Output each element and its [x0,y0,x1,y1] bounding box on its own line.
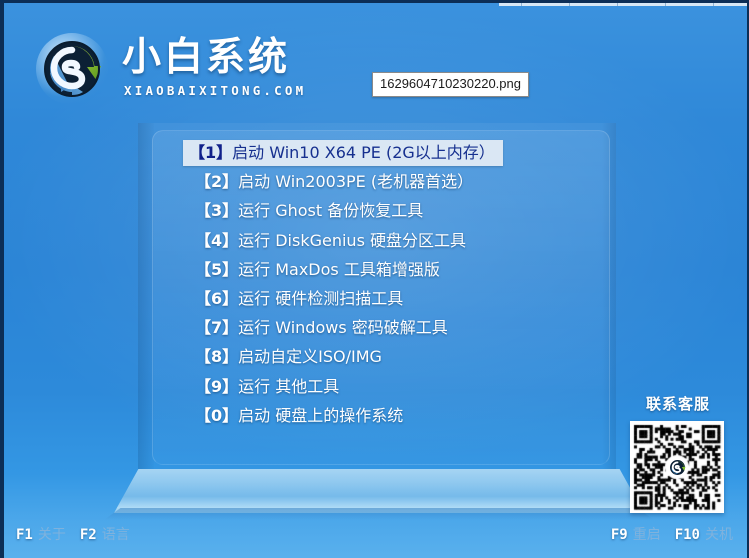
function-keys-right: F9重启F10关机 [611,526,733,544]
fkey-f2[interactable]: F2 [80,527,97,543]
pedestal-shadow [104,508,654,520]
boot-menu-item-7[interactable]: 【7】运行 Windows 密码破解工具 [189,315,456,341]
boot-menu-item-4[interactable]: 【4】运行 DiskGenius 硬盘分区工具 [189,228,474,254]
brand-name-cn: 小白系统 [122,35,290,81]
boot-menu-item-key: 【3】 [195,201,238,220]
boot-menu-item-2[interactable]: 【2】启动 Win2003PE (老机器首选） [189,169,481,195]
qr-code[interactable] [630,421,724,513]
boot-menu-item-label: 启动 Win2003PE (老机器首选） [238,172,473,191]
boot-menu-item-key: 【6】 [195,289,238,308]
boot-menu-item-label: 运行 MaxDos 工具箱增强版 [238,260,440,279]
boot-menu-item-label: 启动 硬盘上的操作系统 [238,406,403,425]
boot-menu-item-label: 运行 Ghost 备份恢复工具 [238,201,423,220]
boot-menu-item-key: 【1】 [189,143,232,162]
boot-menu-item-8[interactable]: 【8】启动自定义ISO/IMG [189,344,390,370]
boot-menu-item-6[interactable]: 【6】运行 硬件检测扫描工具 [189,286,411,312]
boot-menu-item-9[interactable]: 【9】运行 其他工具 [189,374,347,400]
boot-menu-item-key: 【5】 [195,260,238,279]
boot-menu-item-label: 运行 Windows 密码破解工具 [238,318,448,337]
fkey-f9-label: 重启 [633,527,661,543]
pedestal [114,469,644,513]
boot-menu-item-key: 【7】 [195,318,238,337]
boot-menu-list: 【1】启动 Win10 X64 PE (2G以上内存）【2】启动 Win2003… [153,131,611,466]
boot-menu-item-key: 【4】 [195,231,238,250]
boot-menu-item-5[interactable]: 【5】运行 MaxDos 工具箱增强版 [189,257,448,283]
boot-menu-item-label: 运行 硬件检测扫描工具 [238,289,403,308]
fkey-f10[interactable]: F10 [675,527,700,543]
boot-menu-item-label: 运行 DiskGenius 硬盘分区工具 [238,231,466,250]
boot-menu-item-key: 【9】 [195,377,238,396]
boot-menu-item-label: 启动 Win10 X64 PE (2G以上内存） [232,143,495,162]
fkey-f2-label: 语言 [102,527,130,543]
brand-logo: 小白系统 XIAOBAIXITONG.COM [34,31,334,109]
pe-boot-menu-screen: 小白系统 XIAOBAIXITONG.COM 1629604710230220.… [0,0,749,558]
recycle-globe-logo-icon [36,33,108,105]
boot-menu-item-label: 启动自定义ISO/IMG [238,347,382,366]
contact-support-title: 联系客服 [622,395,734,413]
contact-support: 联系客服 [622,395,734,513]
boot-menu-item-label: 运行 其他工具 [238,377,339,396]
filename-tooltip: 1629604710230220.png [372,72,529,97]
boot-menu-panel: 【1】启动 Win10 X64 PE (2G以上内存）【2】启动 Win2003… [152,130,610,465]
top-edge-strip [499,3,749,6]
boot-menu-item-10[interactable]: 【0】启动 硬盘上的操作系统 [189,403,411,429]
boot-menu-item-1[interactable]: 【1】启动 Win10 X64 PE (2G以上内存） [183,140,503,166]
boot-menu-item-key: 【0】 [195,406,238,425]
qr-center-logo-icon [668,458,687,477]
fkey-f1-label: 关于 [38,527,66,543]
boot-menu-item-key: 【8】 [195,347,238,366]
function-keys-left: F1关于F2语言 [16,526,130,544]
brand-name-en: XIAOBAIXITONG.COM [124,83,306,98]
fkey-f10-label: 关机 [705,527,733,543]
fkey-f9[interactable]: F9 [611,527,628,543]
boot-menu-item-key: 【2】 [195,172,238,191]
fkey-f1[interactable]: F1 [16,527,33,543]
boot-menu-item-3[interactable]: 【3】运行 Ghost 备份恢复工具 [189,198,431,224]
